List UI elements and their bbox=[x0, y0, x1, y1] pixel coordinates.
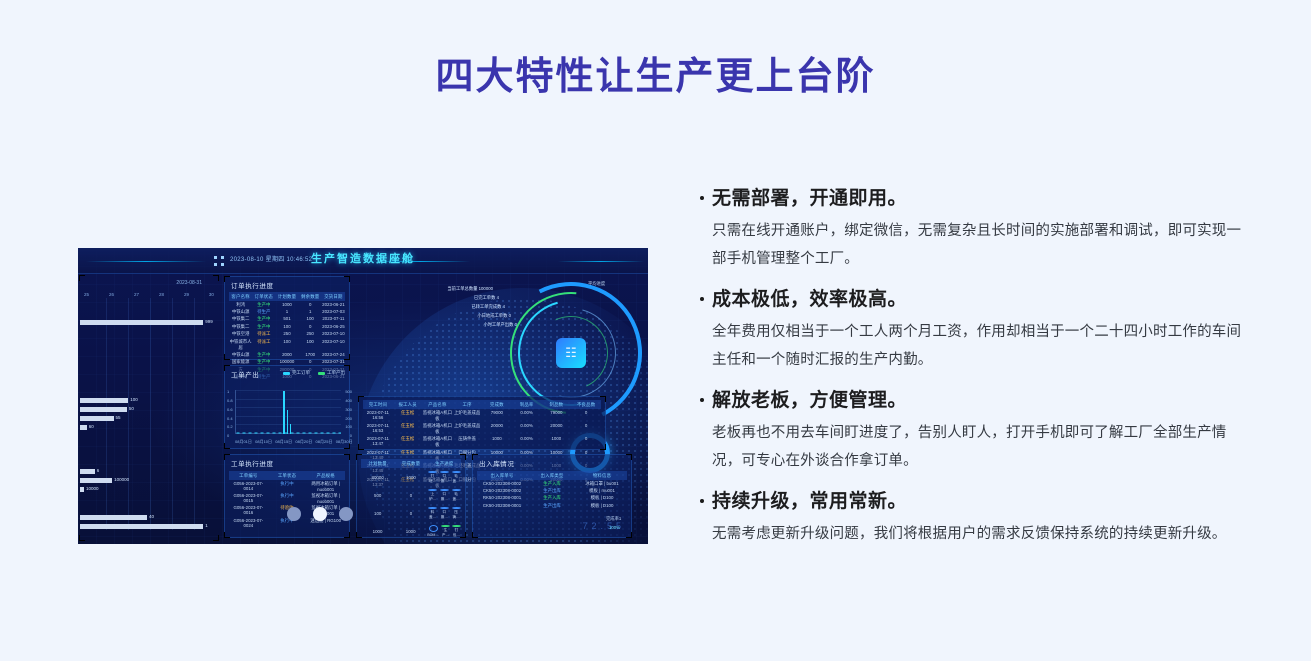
table-cell: 100 bbox=[299, 339, 322, 351]
process-step-label: 生产… bbox=[441, 528, 450, 538]
table-row[interactable]: 1000料盖…口服…压铸… bbox=[361, 504, 461, 522]
table-cell: 0 bbox=[571, 410, 601, 422]
legend-swatch-icon bbox=[318, 372, 325, 375]
column-header: 完工时间 bbox=[363, 402, 393, 408]
process-step: BOM… bbox=[427, 525, 439, 538]
feature-item-2: 解放老板，方便管理。老板再也不用去车间盯进度了，告别人盯人，打开手机即可了解工厂… bbox=[700, 388, 1245, 475]
planned-qty: 1000 bbox=[361, 529, 394, 534]
gantt-bar-row[interactable]: 10000 bbox=[80, 487, 214, 492]
process-steps: 打坯…口服…毛盖… bbox=[428, 471, 461, 484]
process-step-dot-icon bbox=[428, 471, 437, 473]
table-cell: CK50-202308-0002 bbox=[477, 481, 527, 487]
table-cell: 100 bbox=[275, 324, 298, 330]
table-row[interactable]: 10001000BOM…生产…打包… bbox=[361, 522, 461, 540]
process-step-dot-icon bbox=[428, 507, 437, 509]
table-row[interactable]: 2023-07-11 13:47任玉松监视冰箱A机口板压铸件盖10000.00%… bbox=[363, 436, 601, 449]
legend-label: 工单产出 bbox=[327, 370, 345, 376]
done-qty: 0 bbox=[394, 511, 427, 516]
table-header-row: 工单编号工单状态产品规格 bbox=[229, 471, 345, 480]
y-axis-right-tick: 100 bbox=[345, 424, 352, 429]
status-badge: 待生产 bbox=[252, 309, 275, 315]
process-step: 口服… bbox=[439, 489, 449, 502]
column-header: 计划数量 bbox=[275, 294, 298, 300]
table-cell: 0 bbox=[571, 423, 601, 435]
gantt-bar-row[interactable]: 100 bbox=[80, 398, 214, 403]
gantt-bar bbox=[80, 398, 128, 403]
y-axis-left-tick: 0.4 bbox=[227, 416, 233, 421]
process-step: 口服… bbox=[439, 507, 449, 520]
gauge-label: 已转工单完成数 4 bbox=[471, 304, 508, 310]
table-cell: 中铁城市人居 bbox=[229, 339, 252, 351]
gantt-bar-row[interactable]: 999 bbox=[80, 320, 214, 325]
process-step: 毛盖… bbox=[451, 489, 461, 502]
dashboard-header-title: 生产智造数据座舱 bbox=[78, 250, 648, 266]
table-cell: 2023-07-11 16:56 bbox=[363, 410, 393, 422]
column-header: 产品名称 bbox=[423, 402, 453, 408]
gantt-bar-value: 100 bbox=[130, 397, 138, 402]
done-qty: 1000 bbox=[394, 475, 427, 480]
process-step-label: 口服… bbox=[439, 492, 449, 502]
table-cell: 监视冰箱A机口板 bbox=[423, 436, 453, 448]
column-header: 不良品数 bbox=[571, 402, 601, 408]
gantt-tick: 27 bbox=[134, 292, 139, 297]
gantt-bar-value: 60 bbox=[89, 424, 94, 429]
process-steps: 料盖…口服…压铸… bbox=[428, 507, 461, 520]
table-cell: 模板 | D100 bbox=[577, 503, 627, 509]
column-header: 制品率 bbox=[512, 402, 542, 408]
status-badge: 生产中 bbox=[252, 324, 275, 330]
feature-title: 成本极低，效率极高。 bbox=[712, 287, 907, 313]
process-step: 压铸… bbox=[451, 507, 461, 520]
gantt-tick: 29 bbox=[184, 292, 189, 297]
status-badge: 生产中 bbox=[252, 352, 275, 358]
process-step-label: 打坯… bbox=[428, 474, 438, 484]
table-cell: 上炉毛盖成品 bbox=[452, 423, 482, 435]
y-axis-right-tick: 0 bbox=[350, 433, 352, 438]
process-step: 毛盖… bbox=[451, 471, 461, 484]
process-step: 打坯… bbox=[428, 471, 438, 484]
process-step-dot-icon bbox=[441, 525, 450, 527]
gauge-label: 当前工单总数量 100000 bbox=[447, 286, 496, 292]
y-axis-right-tick: 500 bbox=[345, 389, 352, 394]
table-cell: 监视冰箱A机口板 bbox=[423, 410, 453, 422]
table-cell: 两用冰箱订单 | nuob001 bbox=[306, 481, 345, 492]
table-row[interactable]: CK50-202308-0002生产入库冰箱口罩 | bu001 bbox=[477, 480, 627, 487]
feature-title: 解放老板，方便管理。 bbox=[712, 388, 907, 414]
process-step: 打包… bbox=[452, 525, 461, 538]
gantt-panel[interactable]: 2023-08-31 25 26 27 28 29 30 99910050556… bbox=[80, 276, 218, 540]
gantt-bar-row[interactable]: 100000 bbox=[80, 478, 214, 483]
table-cell: 2000 bbox=[275, 352, 298, 358]
legend-label: 完工订单 bbox=[292, 370, 310, 376]
gantt-bar-value: 50 bbox=[129, 406, 134, 411]
right-edge-kpi-label: 完成率1 bbox=[606, 516, 621, 522]
process-step-label: 上炉… bbox=[428, 492, 438, 502]
work-output-chart: 10.80.60.40.20 5004003002001000 08月01日08… bbox=[235, 390, 341, 434]
gantt-bar-value: 10000 bbox=[86, 486, 99, 491]
column-header: 订单状态 bbox=[252, 294, 275, 300]
process-step-dot-icon bbox=[429, 525, 438, 532]
x-axis-tick: 08月15日 bbox=[275, 439, 292, 445]
status-badge: 生产中 bbox=[252, 316, 275, 322]
gantt-bar-row[interactable]: 60 bbox=[80, 425, 214, 430]
column-header: 生产进度 bbox=[428, 461, 461, 467]
page-root: 四大特性让生产更上台阶 2023-08-10 星期四 10:46:52 生产智造… bbox=[0, 0, 1311, 661]
work-output-legend: 完工订单 工单产出 bbox=[283, 370, 345, 376]
y-axis-right-tick: 300 bbox=[345, 407, 352, 412]
y-axis-right-tick: 400 bbox=[345, 398, 352, 403]
status-badge: 任玉松 bbox=[393, 436, 423, 448]
x-axis-tick: 08月25日 bbox=[316, 439, 333, 445]
table-cell: 20000 bbox=[482, 423, 512, 435]
table-row[interactable]: 中铁山源生产中200017002023-07-24 bbox=[229, 351, 345, 358]
x-axis-tick: 08月20日 bbox=[295, 439, 312, 445]
right-edge-small-label: 平均进度 bbox=[588, 281, 605, 287]
status-badge: 生产出库 bbox=[527, 503, 577, 509]
table-row[interactable]: 2023-07-11 16:53任玉松监视冰箱A机口板上炉毛盖成品200000.… bbox=[363, 422, 601, 435]
gantt-bar bbox=[80, 407, 127, 412]
table-cell: 2023-06-21 bbox=[322, 302, 345, 308]
status-badge: 执行中 bbox=[268, 493, 307, 504]
progress-dot[interactable] bbox=[287, 507, 301, 521]
table-cell: 利鸿 bbox=[229, 302, 252, 308]
table-cell: 2023-07-11 13:47 bbox=[363, 436, 393, 448]
table-cell: 中铁山源 bbox=[229, 352, 252, 358]
table-cell: 2023-07-11 16:53 bbox=[363, 423, 393, 435]
table-cell: 250 bbox=[299, 331, 322, 337]
gauge-label: 小日地成工单数 0 bbox=[477, 313, 514, 319]
gantt-bar bbox=[80, 487, 84, 492]
status-badge: 待派工 bbox=[252, 339, 275, 351]
warehouse-table[interactable]: 出入库单号出入库类型物料信息CK50-202308-0002生产入库冰箱口罩 |… bbox=[477, 471, 627, 510]
table-row[interactable]: RK50-202308-0001生产入库模板 | D100 bbox=[477, 495, 627, 502]
feature-heading: 无需部署，开通即用。 bbox=[700, 186, 1245, 212]
legend-item-1: 工单产出 bbox=[318, 370, 345, 376]
table-cell: 0.00% bbox=[512, 423, 542, 435]
table-cell: 2023-07-10 bbox=[322, 339, 345, 351]
status-badge: 任玉松 bbox=[393, 423, 423, 435]
warehouse-panel[interactable]: 出入库情况 出入库单号出入库类型物料信息CK50-202308-0002生产入库… bbox=[472, 454, 632, 538]
bullet-icon bbox=[700, 196, 704, 200]
brand-logo-icon: ☷ bbox=[556, 338, 586, 368]
x-axis-tick: 08月01日 bbox=[235, 439, 252, 445]
table-row[interactable]: CK50-202308-0002生产出库模板 | mu001 bbox=[477, 487, 627, 494]
gantt-date-label: 2023-08-31 bbox=[176, 280, 202, 286]
production-process-panel[interactable]: 计划数量完成数量生产进度800001000打坯…口服…毛盖…5000上炉…口服…… bbox=[356, 454, 466, 538]
table-row[interactable]: 中铁集二生产中10002023-06-25 bbox=[229, 323, 345, 330]
legend-item-0: 完工订单 bbox=[283, 370, 310, 376]
gantt-bar bbox=[80, 469, 95, 474]
table-cell: 2023-07-03 bbox=[322, 309, 345, 315]
table-cell: G056-2023-07-0016 bbox=[229, 505, 268, 516]
process-step-label: 口服… bbox=[439, 474, 449, 484]
gantt-bar bbox=[80, 524, 203, 529]
process-step: 生产… bbox=[441, 525, 450, 538]
order-progress-panel[interactable]: 订单执行进度 客户名称订单状态计划数量剩余数量交货日期利鸿生产中10000202… bbox=[224, 276, 350, 360]
table-cell: 上炉毛盖成品 bbox=[452, 410, 482, 422]
progress-dots[interactable] bbox=[287, 507, 353, 521]
done-qty: 0 bbox=[394, 493, 427, 498]
gantt-bar-row[interactable]: 1 bbox=[80, 524, 214, 529]
planned-qty: 100 bbox=[361, 511, 394, 516]
page-title: 四大特性让生产更上台阶 bbox=[0, 50, 1311, 104]
table-cell: 0 bbox=[299, 302, 322, 308]
table-header-row: 出入库单号出入库类型物料信息 bbox=[477, 471, 627, 480]
order-progress-title: 订单执行进度 bbox=[231, 280, 274, 290]
progress-dot-active[interactable] bbox=[313, 507, 327, 521]
table-header-row: 客户名称订单状态计划数量剩余数量交货日期 bbox=[229, 292, 345, 301]
table-row[interactable]: 中铁空港待派工2502502023-07-10 bbox=[229, 331, 345, 338]
gantt-bar-row[interactable]: 50 bbox=[80, 407, 214, 412]
status-badge: 生产出库 bbox=[527, 488, 577, 494]
y-axis-left-tick: 0.2 bbox=[227, 424, 233, 429]
gantt-bar bbox=[80, 425, 87, 430]
table-cell: RK50-202308-0001 bbox=[477, 495, 527, 501]
table-cell: 压铸件盖 bbox=[452, 436, 482, 448]
y-axis-right-tick: 200 bbox=[345, 416, 352, 421]
status-badge: 生产入库 bbox=[527, 495, 577, 501]
y-axis-left-tick: 0.8 bbox=[227, 398, 233, 403]
table-cell: 20000 bbox=[542, 423, 572, 435]
feature-heading: 成本极低，效率极高。 bbox=[700, 287, 1245, 313]
table-cell: 监视冰箱订单 | nuob001 bbox=[306, 493, 345, 504]
table-cell: 1 bbox=[299, 309, 322, 315]
table-cell: 1000 bbox=[482, 436, 512, 448]
column-header: 客户名称 bbox=[229, 294, 252, 300]
gantt-bar-value: 999 bbox=[205, 319, 213, 324]
process-step: 上炉… bbox=[428, 489, 438, 502]
table-cell: CK50-202308-0002 bbox=[477, 488, 527, 494]
feature-body: 全年费用仅相当于一个工人两个月工资，作用却相当于一个二十四小时工作的车间主任和一… bbox=[712, 318, 1245, 374]
feature-body: 老板再也不用去车间盯进度了，告别人盯人，打开手机即可了解工厂全部生产情况，可专心… bbox=[712, 419, 1245, 475]
table-header-row: 计划数量完成数量生产进度 bbox=[361, 459, 461, 468]
table-cell: 2023-06-25 bbox=[322, 324, 345, 330]
x-axis-tick: 08月10日 bbox=[255, 439, 272, 445]
work-output-panel[interactable]: 工单产出 完工订单 工单产出 10.80.60.40.20 bbox=[224, 365, 350, 449]
table-row[interactable]: 5000上炉…口服…毛盖… bbox=[361, 486, 461, 504]
column-header: 交货日期 bbox=[322, 294, 345, 300]
column-header: 工序 bbox=[452, 402, 482, 408]
feature-title: 持续升级，常用常新。 bbox=[712, 489, 907, 515]
bullet-icon bbox=[700, 297, 704, 301]
status-badge: 生产中 bbox=[252, 302, 275, 308]
column-header: 剩余数量 bbox=[299, 294, 322, 300]
table-cell: 模板 | D100 bbox=[577, 495, 627, 501]
done-qty: 1000 bbox=[394, 529, 427, 534]
gantt-tick: 26 bbox=[109, 292, 114, 297]
table-row[interactable]: 800001000打坯…口服…毛盖… bbox=[361, 468, 461, 486]
work-order-progress-panel[interactable]: 工单执行进度 工单编号工单状态产品规格G056-2023-07-0014执行中两… bbox=[224, 454, 350, 538]
table-row[interactable]: 利鸿生产中100002023-06-21 bbox=[229, 301, 345, 308]
column-header: 工单状态 bbox=[268, 473, 307, 479]
process-step-label: 压铸… bbox=[451, 510, 461, 520]
column-header: 完成数 bbox=[482, 402, 512, 408]
process-steps: 上炉…口服…毛盖… bbox=[428, 489, 461, 502]
chart-spike bbox=[287, 410, 289, 434]
table-cell: 中铁集二 bbox=[229, 324, 252, 330]
table-cell: 100 bbox=[275, 339, 298, 351]
table-row[interactable]: 中铁集二生产中5011002023-07-11 bbox=[229, 316, 345, 323]
feature-body: 只需在线开通账户，绑定微信，无需复杂且长时间的实施部署和调试，即可实现一部手机管… bbox=[712, 217, 1245, 273]
table-cell: 1700 bbox=[299, 352, 322, 358]
planned-qty: 500 bbox=[361, 493, 394, 498]
table-cell: 中铁集二 bbox=[229, 316, 252, 322]
gantt-bar-value: 1 bbox=[205, 523, 208, 528]
process-step-dot-icon bbox=[452, 507, 461, 509]
status-badge: 任玉松 bbox=[393, 410, 423, 422]
production-process-table[interactable]: 计划数量完成数量生产进度800001000打坯…口服…毛盖…5000上炉…口服…… bbox=[361, 459, 461, 540]
column-header: 工单编号 bbox=[229, 473, 268, 479]
gantt-bar-value: 40 bbox=[149, 514, 154, 519]
table-cell: G056-2023-07-0024 bbox=[229, 518, 268, 528]
column-header: 计划数量 bbox=[361, 461, 394, 467]
feature-item-3: 持续升级，常用常新。无需考虑更新升级问题，我们将根据用户的需求反馈保持系统的持续… bbox=[700, 489, 1245, 548]
process-step-label: 毛盖… bbox=[451, 474, 461, 484]
gantt-bar-row[interactable]: 6 bbox=[80, 469, 214, 474]
y-axis-left-tick: 1 bbox=[227, 389, 229, 394]
table-cell: G056-2023-07-0014 bbox=[229, 481, 268, 492]
column-header: 制品数 bbox=[542, 402, 572, 408]
bullet-icon bbox=[700, 499, 704, 503]
table-cell: 100 bbox=[299, 316, 322, 322]
feature-heading: 持续升级，常用常新。 bbox=[700, 489, 1245, 515]
table-cell: 2023-07-24 bbox=[322, 352, 345, 358]
process-step-dot-icon bbox=[440, 489, 449, 491]
table-cell: 2023-07-10 bbox=[322, 331, 345, 337]
process-step-dot-icon bbox=[452, 489, 461, 491]
process-step-label: BOM… bbox=[427, 533, 439, 538]
table-cell: 0.00% bbox=[512, 436, 542, 448]
y-axis-left-tick: 0 bbox=[227, 433, 229, 438]
table-cell: 79000 bbox=[482, 410, 512, 422]
table-cell: 中铁山源 bbox=[229, 309, 252, 315]
table-cell: 0 bbox=[571, 436, 601, 448]
table-row[interactable]: 中铁山源待生产112023-07-03 bbox=[229, 308, 345, 315]
feature-heading: 解放老板，方便管理。 bbox=[700, 388, 1245, 414]
dashboard-canvas: 2023-08-10 星期四 10:46:52 生产智造数据座舱 2023-08… bbox=[78, 248, 648, 544]
right-edge-kpi-value: 100% bbox=[609, 525, 620, 530]
table-cell: 中铁空港 bbox=[229, 331, 252, 337]
gantt-bar-row[interactable]: 40 bbox=[80, 515, 214, 520]
table-cell: 1000 bbox=[275, 302, 298, 308]
process-step-dot-icon bbox=[452, 471, 461, 473]
y-axis-left-tick: 0.6 bbox=[227, 407, 233, 412]
warehouse-title: 出入库情况 bbox=[479, 458, 515, 468]
table-row[interactable]: 中铁城市人居待派工1001002023-07-10 bbox=[229, 338, 345, 351]
feature-title: 无需部署，开通即用。 bbox=[712, 186, 907, 212]
process-step: 料盖… bbox=[428, 507, 438, 520]
gantt-tick: 28 bbox=[159, 292, 164, 297]
status-badge: 待派工 bbox=[252, 331, 275, 337]
gantt-bar-value: 55 bbox=[116, 415, 121, 420]
table-cell: 冰箱口罩 | bu001 bbox=[577, 481, 627, 487]
gauge-label: 已完工单数 4 bbox=[474, 295, 502, 301]
table-cell: 模板 | mu001 bbox=[577, 488, 627, 494]
feature-list: 无需部署，开通即用。只需在线开通账户，绑定微信，无需复杂且长时间的实施部署和调试… bbox=[700, 186, 1245, 548]
column-header: 产品规格 bbox=[306, 473, 345, 479]
process-step-label: 口服… bbox=[439, 510, 449, 520]
process-step-dot-icon bbox=[452, 525, 461, 527]
table-cell: 1000 bbox=[542, 436, 572, 448]
work-order-progress-title: 工单执行进度 bbox=[231, 458, 274, 468]
column-header: 出入库类型 bbox=[527, 473, 577, 479]
status-badge: 生产入库 bbox=[527, 481, 577, 487]
feature-body: 无需考虑更新升级问题，我们将根据用户的需求反馈保持系统的持续更新升级。 bbox=[712, 520, 1245, 548]
gantt-bar bbox=[80, 416, 114, 421]
table-cell: 79000 bbox=[542, 410, 572, 422]
process-step-label: 打包… bbox=[452, 528, 461, 538]
process-step-label: 毛盖… bbox=[451, 492, 461, 502]
table-row[interactable]: 2023-07-11 16:56任玉松监视冰箱A机口板上炉毛盖成品790000.… bbox=[363, 409, 601, 422]
gantt-bar bbox=[80, 320, 203, 325]
table-cell: 0.00% bbox=[512, 410, 542, 422]
gantt-bar-value: 6 bbox=[97, 468, 100, 473]
table-cell: 501 bbox=[275, 316, 298, 322]
progress-dot[interactable] bbox=[339, 507, 353, 521]
gantt-bar bbox=[80, 478, 112, 483]
dashboard-screenshot[interactable]: 2023-08-10 星期四 10:46:52 生产智造数据座舱 2023-08… bbox=[78, 248, 648, 544]
x-axis-tick: 08月30日 bbox=[336, 439, 353, 445]
column-header: 出入库单号 bbox=[477, 473, 527, 479]
chart-spike bbox=[283, 391, 285, 434]
gantt-bar bbox=[80, 515, 147, 520]
process-step-dot-icon bbox=[440, 471, 449, 473]
table-row[interactable]: G056-2023-07-0014执行中两用冰箱订单 | nuob001 bbox=[229, 480, 345, 492]
gantt-tick: 30 bbox=[209, 292, 214, 297]
work-output-title: 工单产出 bbox=[231, 369, 259, 379]
status-badge: 执行中 bbox=[268, 481, 307, 492]
feature-item-0: 无需部署，开通即用。只需在线开通账户，绑定微信，无需复杂且长时间的实施部署和调试… bbox=[700, 186, 1245, 273]
gantt-bar-value: 100000 bbox=[114, 477, 129, 482]
gauge-label: 小时工单产出数 0 bbox=[483, 322, 520, 328]
gantt-axis: 25 26 27 28 29 30 bbox=[84, 292, 214, 297]
gantt-tick: 25 bbox=[84, 292, 89, 297]
table-cell: 250 bbox=[275, 331, 298, 337]
table-cell: G056-2023-07-0015 bbox=[229, 493, 268, 504]
gantt-bar-row[interactable]: 55 bbox=[80, 416, 214, 421]
process-step: 口服… bbox=[439, 471, 449, 484]
column-header: 物料信息 bbox=[577, 473, 627, 479]
table-cell: 0 bbox=[299, 324, 322, 330]
table-cell: 1 bbox=[275, 309, 298, 315]
table-cell: 监视冰箱A机口板 bbox=[423, 423, 453, 435]
process-step-label: 料盖… bbox=[428, 510, 438, 520]
planned-qty: 80000 bbox=[361, 475, 394, 480]
completion-table-panel[interactable]: 完工时间报工人员产品名称工序完成数制品率制品数不良品数2023-07-11 16… bbox=[358, 396, 606, 450]
column-header: 报工人员 bbox=[393, 402, 423, 408]
process-step-dot-icon bbox=[428, 489, 437, 491]
feature-item-1: 成本极低，效率极高。全年费用仅相当于一个工人两个月工资，作用却相当于一个二十四小… bbox=[700, 287, 1245, 374]
table-header-row: 完工时间报工人员产品名称工序完成数制品率制品数不良品数 bbox=[363, 400, 601, 409]
table-cell: CK50-202308-0001 bbox=[477, 503, 527, 509]
table-row[interactable]: G056-2023-07-0015执行中监视冰箱订单 | nuob001 bbox=[229, 492, 345, 504]
process-step-dot-icon bbox=[440, 507, 449, 509]
legend-swatch-icon bbox=[283, 372, 290, 375]
process-steps: BOM…生产…打包… bbox=[427, 525, 461, 538]
table-row[interactable]: CK50-202308-0001生产出库模板 | D100 bbox=[477, 502, 627, 509]
chart-spike bbox=[290, 424, 292, 434]
bullet-icon bbox=[700, 398, 704, 402]
column-header: 完成数量 bbox=[394, 461, 427, 467]
table-cell: 2023-07-11 bbox=[322, 316, 345, 322]
